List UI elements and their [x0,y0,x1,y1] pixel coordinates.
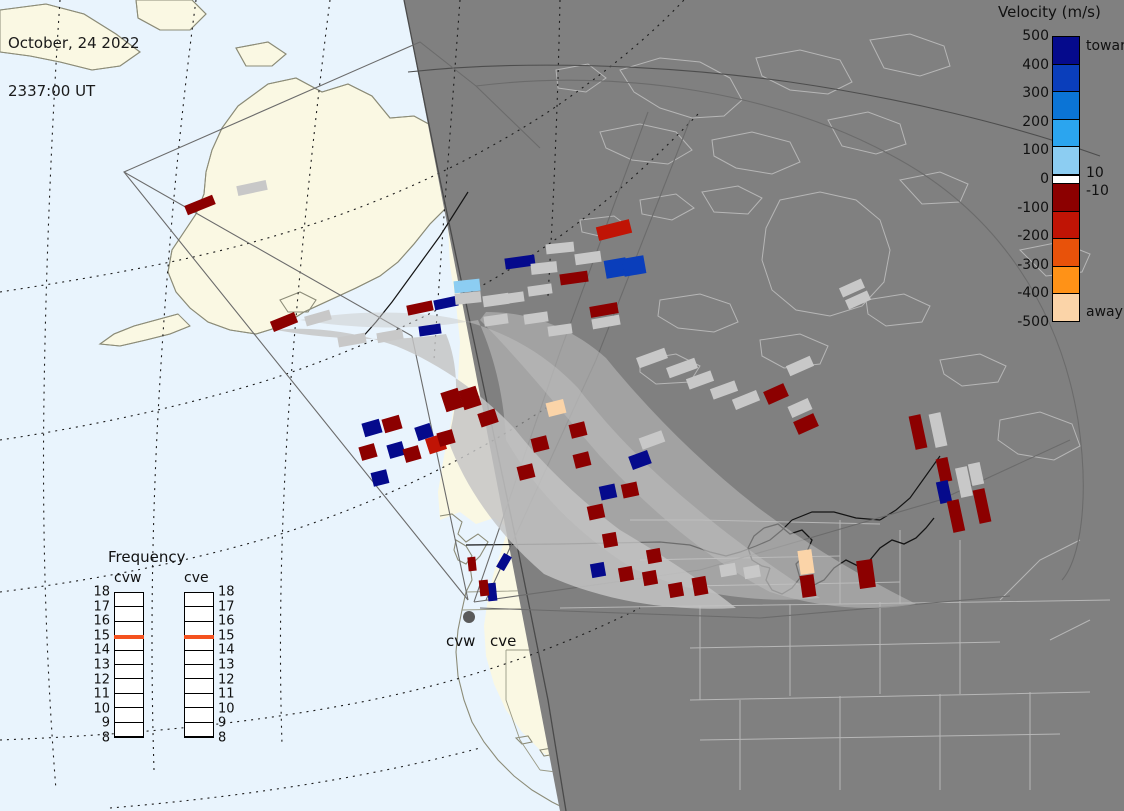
colorbar-band [1053,147,1079,175]
frequency-tick-label: 15 [84,628,110,643]
frequency-tick-label: 10 [84,701,110,716]
title-date: October, 24 2022 [8,35,140,51]
colorbar-tick-label: 400 [1022,57,1049,73]
colorbar-tick-label: 100 [1022,142,1049,158]
frequency-cell [115,651,143,665]
colorbar-tick-label: 300 [1022,85,1049,101]
frequency-marker [114,635,144,639]
colorbar-band [1053,184,1079,212]
frequency-cell [115,723,143,737]
title-time: 2337:00 UT [8,83,140,99]
plot-title: October, 24 2022 2337:00 UT [8,3,140,131]
frequency-cell [115,607,143,621]
frequency-tick-label: 11 [218,687,235,702]
frequency-tick-label: 9 [218,716,226,731]
frequency-cell [115,665,143,679]
frequency-tick-label: 10 [218,701,235,716]
colorbar-tick-label: -200 [1017,228,1049,244]
colorbar-tick-label: -500 [1017,314,1049,330]
frequency-tick-label: 9 [84,716,110,731]
frequency-marker [184,635,214,639]
frequency-cell [185,665,213,679]
colorbar-band [1053,294,1079,321]
colorbar-tick-label: 0 [1040,171,1049,187]
frequency-tick-label: 14 [218,643,235,658]
colorbar-band [1053,65,1079,93]
frequency-bar-cvw [114,592,144,738]
frequency-cell [185,679,213,693]
frequency-tick-label: 18 [218,585,235,600]
frequency-cell [185,607,213,621]
frequency-cell [185,723,213,737]
frequency-cell [115,679,143,693]
frequency-cell [185,694,213,708]
colorbar-lower-threshold: -10 [1086,183,1109,199]
frequency-tick-label: 14 [84,643,110,658]
frequency-tick-label: 11 [84,687,110,702]
frequency-column-label-cve: cve [184,570,209,586]
frequency-title: Frequency [108,548,186,566]
frequency-tick-label: 15 [218,628,235,643]
colorbar-tick-label: 500 [1022,28,1049,44]
frequency-tick-label: 13 [84,658,110,673]
frequency-tick-label: 16 [84,614,110,629]
colorbar-band [1053,92,1079,120]
colorbar-upper-threshold: 10 [1086,165,1104,181]
frequency-tick-label: 18 [84,585,110,600]
colorbar-title: Velocity (m/s) [998,3,1101,21]
frequency-cell [115,708,143,722]
colorbar-stack [1052,36,1080,322]
frequency-bar-cve [184,592,214,738]
station-label-cvw: cvw [446,632,475,650]
frequency-cell [185,593,213,607]
station-label-cve: cve [490,632,516,650]
colorbar-band [1053,212,1079,240]
frequency-tick-label: 13 [218,658,235,673]
frequency-cell [115,694,143,708]
frequency-tick-label: 8 [84,731,110,746]
frequency-tick-label: 12 [84,672,110,687]
colorbar-tick-label: 200 [1022,114,1049,130]
frequency-tick-label: 17 [84,599,110,614]
frequency-cell [185,651,213,665]
frequency-tick-label: 16 [218,614,235,629]
colorbar-band [1053,267,1079,295]
frequency-tick-label: 17 [218,599,235,614]
colorbar-tick-label: -400 [1017,285,1049,301]
colorbar-band [1053,239,1079,267]
colorbar-tick-label: -300 [1017,257,1049,273]
frequency-legend: Frequency cvw cve 18171615141312111098 1… [84,548,244,784]
frequency-cell [115,593,143,607]
colorbar-band [1053,120,1079,148]
colorbar-toward-label: toward [1086,38,1124,54]
frequency-cell [185,708,213,722]
frequency-column-label-cvw: cvw [114,570,141,586]
colorbar-zero-band [1053,175,1079,184]
radar-fan-plot: October, 24 2022 2337:00 UT cvw cve Velo… [0,0,1124,811]
frequency-tick-label: 12 [218,672,235,687]
colorbar-tick-label: -100 [1017,200,1049,216]
colorbar-away-label: away [1086,304,1123,320]
velocity-colorbar: Velocity (m/s) 5004003002001000-100-200-… [992,0,1124,340]
colorbar-band [1053,37,1079,65]
radar-origin-dot [463,611,475,623]
frequency-tick-label: 8 [218,731,226,746]
